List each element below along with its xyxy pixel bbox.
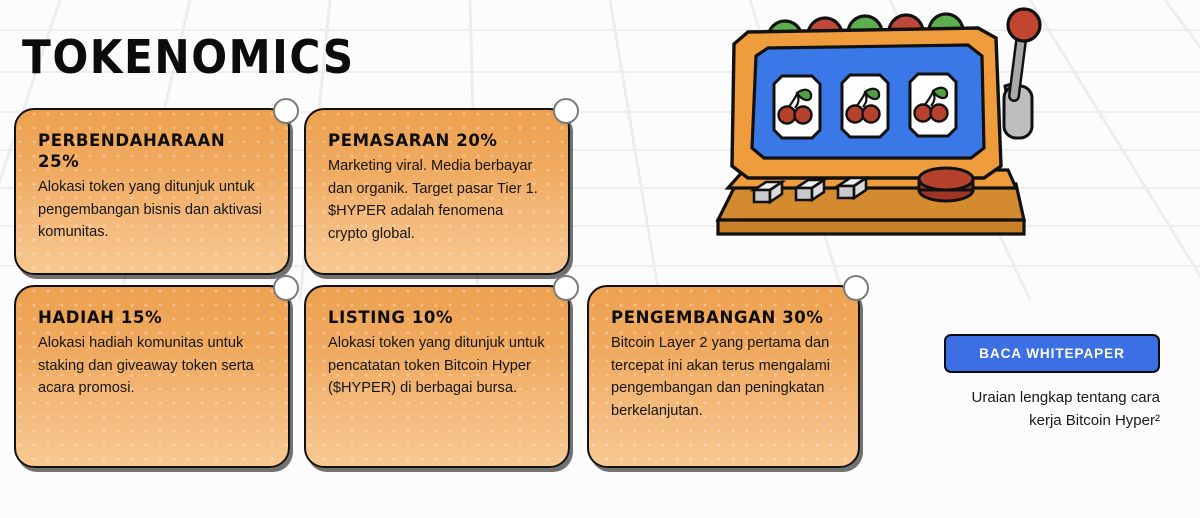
card-body: Marketing viral. Media berbayar dan orga… — [328, 155, 546, 245]
corner-knob-icon — [553, 98, 579, 124]
whitepaper-cta: BACA WHITEPAPER Uraian lengkap tentang c… — [944, 334, 1160, 432]
reel-1-cherries — [774, 76, 820, 138]
baca-whitepaper-button[interactable]: BACA WHITEPAPER — [944, 334, 1160, 373]
page-title: TOKENOMICS — [22, 32, 355, 82]
card-body: Alokasi hadiah komunitas untuk staking d… — [38, 332, 266, 400]
card-body: Alokasi token yang ditunjuk untuk pencat… — [328, 332, 546, 400]
corner-knob-icon — [553, 275, 579, 301]
slot-machine-illustration — [706, 0, 1056, 244]
card-perbendaharaan[interactable]: PERBENDAHARAAN 25% Alokasi token yang di… — [14, 108, 290, 275]
whitepaper-caption: Uraian lengkap tentang cara kerja Bitcoi… — [944, 386, 1160, 432]
slot-push-button[interactable] — [919, 168, 973, 201]
corner-knob-icon — [273, 98, 299, 124]
reel-3-cherries — [910, 74, 956, 136]
slot-side-buttons[interactable] — [754, 178, 866, 202]
slot-reels — [774, 74, 956, 138]
card-body: Alokasi token yang ditunjuk untuk pengem… — [38, 176, 266, 244]
card-title: LISTING 10% — [328, 307, 546, 328]
corner-knob-icon — [273, 275, 299, 301]
card-pemasaran[interactable]: PEMASARAN 20% Marketing viral. Media ber… — [304, 108, 570, 275]
card-title: PERBENDAHARAAN 25% — [38, 130, 266, 172]
card-body: Bitcoin Layer 2 yang pertama dan tercepa… — [611, 332, 836, 422]
card-pengembangan[interactable]: PENGEMBANGAN 30% Bitcoin Layer 2 yang pe… — [587, 285, 860, 468]
slot-lever[interactable] — [1004, 9, 1040, 138]
card-listing[interactable]: LISTING 10% Alokasi token yang ditunjuk … — [304, 285, 570, 468]
card-title: PEMASARAN 20% — [328, 130, 546, 151]
lever-ball — [1008, 9, 1040, 41]
corner-knob-icon — [843, 275, 869, 301]
card-title: HADIAH 15% — [38, 307, 266, 328]
card-hadiah[interactable]: HADIAH 15% Alokasi hadiah komunitas untu… — [14, 285, 290, 468]
card-title: PENGEMBANGAN 30% — [611, 307, 836, 328]
reel-2-cherries — [842, 75, 888, 137]
